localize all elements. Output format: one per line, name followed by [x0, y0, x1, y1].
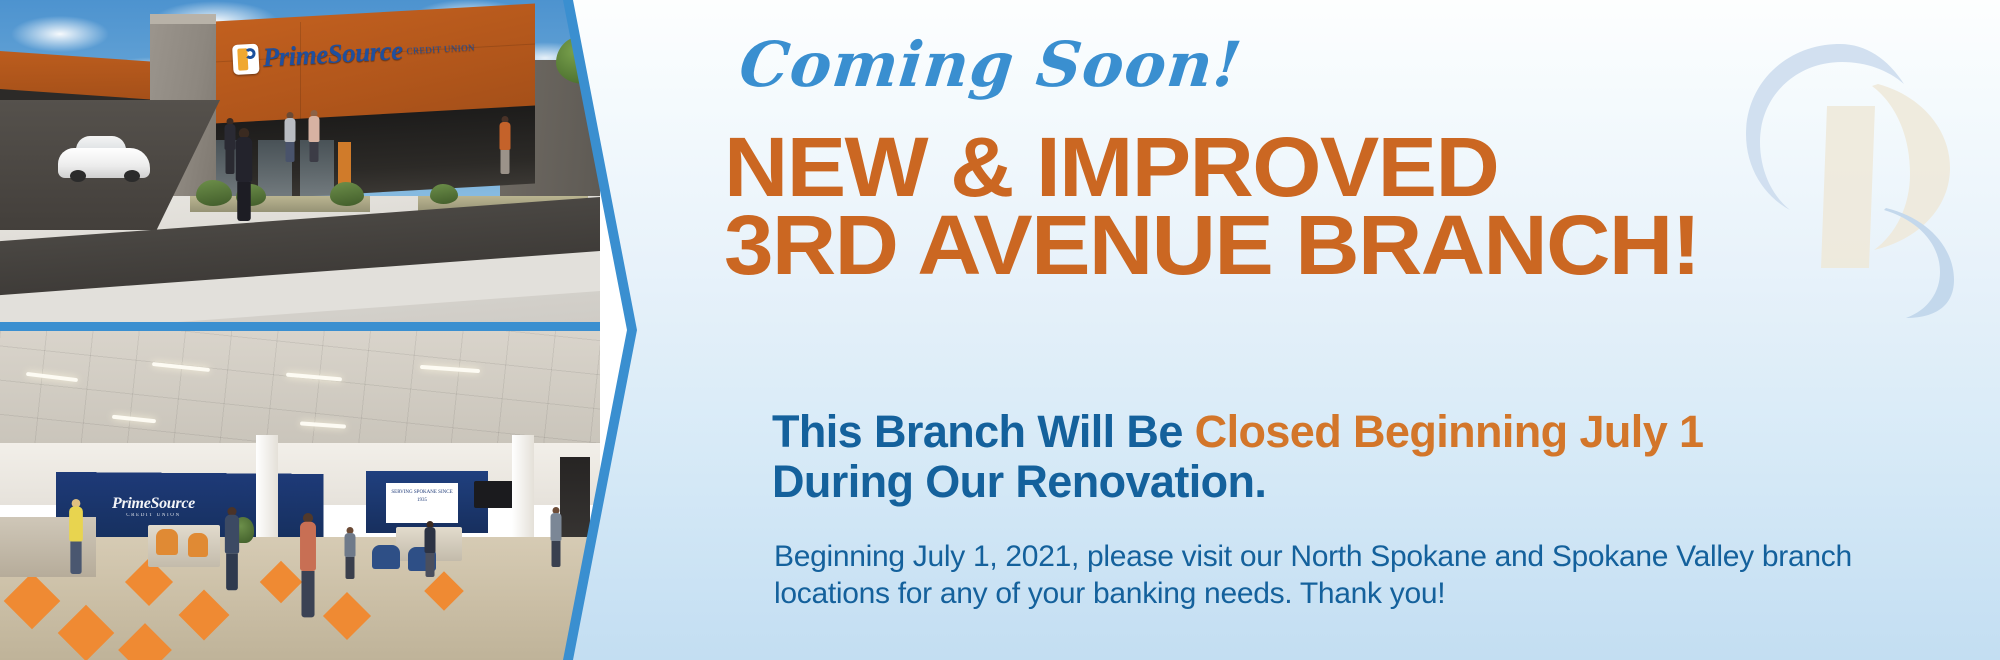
- subheadline-orange-text: Closed Beginning July 1: [1195, 406, 1704, 457]
- headline-line-2: 3RD AVENUE BRANCH!: [724, 206, 1700, 285]
- promotional-banner: PrimeSourceCREDIT UNION: [0, 0, 2000, 660]
- eyebrow-coming-soon: Coming Soon!: [737, 34, 1245, 96]
- subheadline-line-2: During Our Renovation.: [772, 458, 1266, 506]
- body-copy: Beginning July 1, 2021, please visit our…: [774, 538, 1964, 612]
- subheadline-blue-text: This Branch Will Be: [772, 406, 1195, 457]
- banner-text-block: Coming Soon! NEW & IMPROVED 3RD AVENUE B…: [0, 0, 2000, 660]
- headline-line-1: NEW & IMPROVED: [724, 128, 1498, 207]
- subheadline-line-1: This Branch Will Be Closed Beginning Jul…: [772, 408, 1703, 456]
